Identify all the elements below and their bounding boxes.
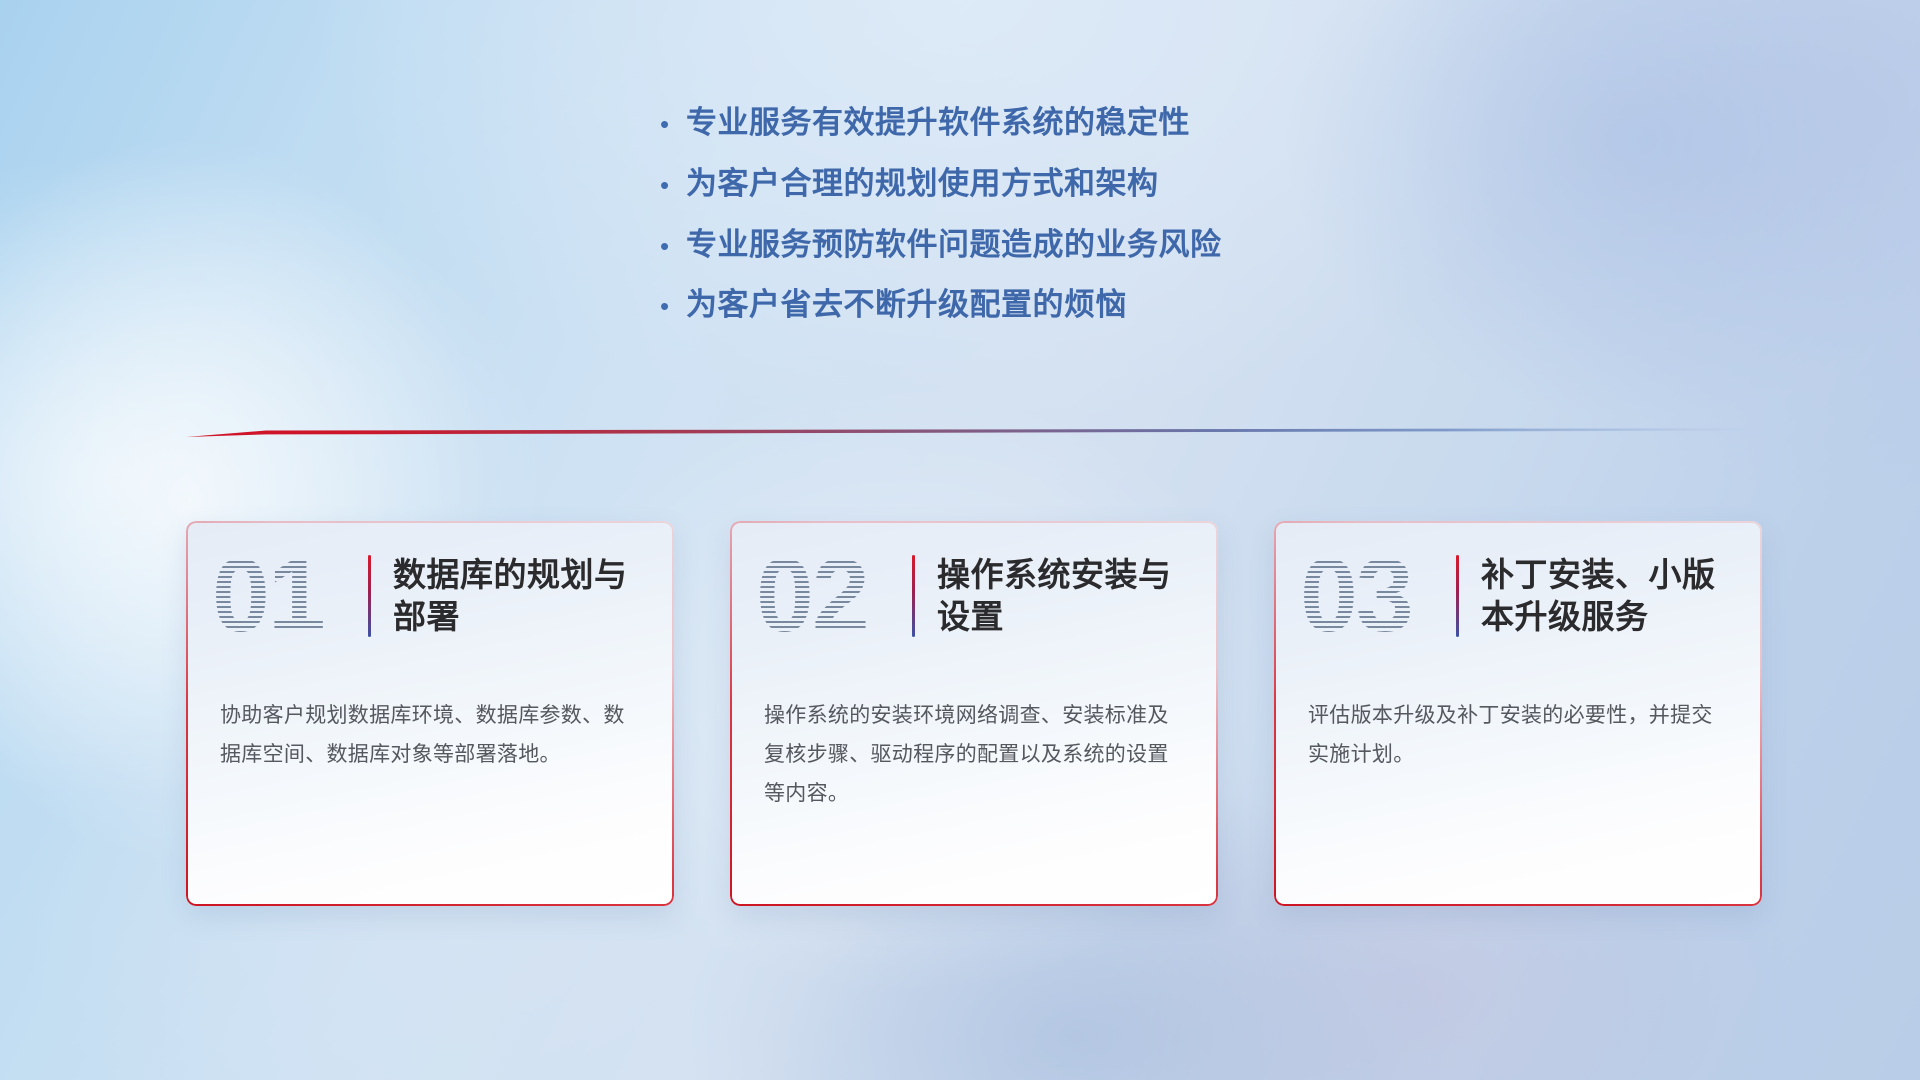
bullet-marker-icon: •: [660, 111, 686, 137]
bullet-text: 专业服务预防软件问题造成的业务风险: [686, 226, 1222, 265]
card-header: 02 操作系统安装与设置: [730, 521, 1218, 671]
bullet-item: • 专业服务预防软件问题造成的业务风险: [660, 226, 1660, 265]
bullet-marker-icon: •: [660, 233, 686, 259]
card-description: 评估版本升级及补丁安装的必要性，并提交实施计划。: [1308, 697, 1728, 775]
section-divider: [180, 424, 1760, 442]
bullet-text: 专业服务有效提升软件系统的稳定性: [686, 104, 1190, 143]
card-title: 数据库的规划与部署: [393, 554, 643, 638]
service-card[interactable]: 01 数据库的规划与部署 协助客户规划数据库环境、数据库参数、数据库空间、数据库…: [186, 521, 674, 906]
card-divider-bar: [1456, 555, 1459, 637]
card-description: 协助客户规划数据库环境、数据库参数、数据库空间、数据库对象等部署落地。: [220, 697, 640, 775]
card-header: 03 补丁安装、小版本升级服务: [1274, 521, 1762, 671]
card-number-text: 01: [212, 541, 324, 651]
service-card[interactable]: 03 补丁安装、小版本升级服务 评估版本升级及补丁安装的必要性，并提交实施计划。: [1274, 521, 1762, 906]
card-number-text: 03: [1300, 541, 1412, 651]
bullet-text: 为客户合理的规划使用方式和架构: [686, 165, 1159, 204]
divider-line-icon: [180, 424, 1760, 442]
bullet-item: • 为客户省去不断升级配置的烦恼: [660, 286, 1660, 325]
card-title: 补丁安装、小版本升级服务: [1481, 554, 1731, 638]
bullet-item: • 为客户合理的规划使用方式和架构: [660, 165, 1660, 204]
card-number-watermark: 03: [1300, 541, 1452, 651]
service-card[interactable]: 02 操作系统安装与设置 操作系统的安装环境网络调查、安装标准及复核步骤、驱动程…: [730, 521, 1218, 906]
card-divider-bar: [912, 555, 915, 637]
bullet-marker-icon: •: [660, 293, 686, 319]
card-header: 01 数据库的规划与部署: [186, 521, 674, 671]
card-title: 操作系统安装与设置: [937, 554, 1187, 638]
card-description: 操作系统的安装环境网络调查、安装标准及复核步骤、驱动程序的配置以及系统的设置等内…: [764, 697, 1184, 814]
benefits-bullet-list: • 专业服务有效提升软件系统的稳定性 • 为客户合理的规划使用方式和架构 • 专…: [660, 104, 1660, 347]
bullet-marker-icon: •: [660, 172, 686, 198]
slide-canvas: • 专业服务有效提升软件系统的稳定性 • 为客户合理的规划使用方式和架构 • 专…: [0, 0, 1920, 1080]
card-number-text: 02: [756, 541, 868, 651]
card-number-watermark: 01: [212, 541, 364, 651]
service-cards-row: 01 数据库的规划与部署 协助客户规划数据库环境、数据库参数、数据库空间、数据库…: [186, 521, 1796, 906]
bullet-item: • 专业服务有效提升软件系统的稳定性: [660, 104, 1660, 143]
card-divider-bar: [368, 555, 371, 637]
card-number-watermark: 02: [756, 541, 908, 651]
bullet-text: 为客户省去不断升级配置的烦恼: [686, 286, 1127, 325]
